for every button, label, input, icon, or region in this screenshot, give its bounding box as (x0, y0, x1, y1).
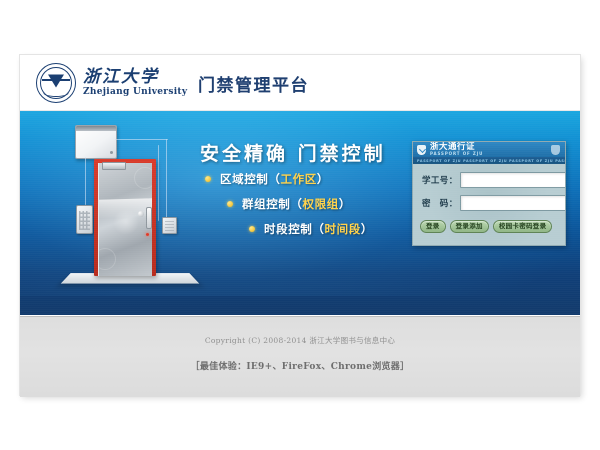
login-title-cn: 浙大通行证 (430, 143, 483, 152)
shield-icon-secondary (551, 145, 560, 155)
username-label: 学工号： (422, 174, 460, 186)
door-knob-icon (138, 211, 144, 217)
login-form: 学工号： 密 码： (413, 164, 565, 211)
feature-suffix: ） (361, 221, 373, 237)
bullet-dot-icon (249, 226, 255, 232)
access-control-illustration (58, 121, 203, 306)
login-add-button[interactable]: 登录添加 (450, 220, 489, 233)
keypad-reader-icon (76, 205, 93, 234)
card-reader-grille (165, 220, 174, 231)
shield-icon (417, 145, 426, 155)
app-page: 浙江大学 Zhejiang University 门禁管理平台 (20, 55, 580, 395)
banner-headline: 安全精确 门禁控制 (200, 139, 386, 166)
wire-to-door-lock (158, 145, 159, 221)
login-button[interactable]: 登录 (420, 220, 446, 233)
door-handle-icon (146, 207, 152, 229)
door-panel (98, 163, 152, 276)
bullet-dot-icon (227, 201, 233, 207)
logo-text: 浙江大学 Zhejiang University (83, 69, 187, 97)
copyright-text: Copyright (C) 2008-2014 浙江大学图书与信息中心 (20, 317, 580, 346)
door-motif (134, 167, 152, 189)
hero-banner: 安全精确 门禁控制 区域控制（ 工作区 ） 群组控制（ 权限组 ） 时段控制（ … (20, 111, 580, 316)
feature-label: 群组控制（ (242, 196, 303, 212)
username-input[interactable] (460, 172, 566, 188)
login-field-row: 学工号： (422, 172, 556, 188)
login-field-row: 密 码： (422, 195, 556, 211)
wire-to-card-reader (166, 139, 167, 223)
page-title: 门禁管理平台 (198, 71, 309, 96)
wire-controller-top (115, 139, 168, 140)
feature-highlight: 时间段 (325, 221, 361, 237)
feature-highlight: 权限组 (303, 196, 339, 212)
feature-label: 区域控制（ (220, 171, 281, 187)
site-header: 浙江大学 Zhejiang University 门禁管理平台 (20, 55, 580, 111)
campus-card-login-button[interactable]: 校园卡密码登录 (493, 220, 553, 233)
university-name-en: Zhejiang University (83, 88, 187, 97)
list-item: 时段控制（ 时间段 ） (249, 221, 373, 237)
wire-controller-to-keypad (85, 157, 86, 205)
seal-bird-shape (48, 75, 64, 88)
list-item: 区域控制（ 工作区 ） (205, 171, 373, 187)
card-reader-icon (162, 217, 177, 234)
feature-highlight: 工作区 (281, 171, 317, 187)
login-title-en: PASSPORT OF ZJU (430, 152, 483, 156)
login-panel: 浙大通行证 PASSPORT OF ZJU PASSPORT OF ZJU PA… (412, 141, 566, 246)
door-closer-icon (102, 162, 126, 170)
zju-seal-icon (36, 63, 76, 103)
bullet-dot-icon (205, 176, 211, 182)
controller-led (110, 151, 113, 154)
password-label: 密 码： (422, 197, 460, 209)
feature-label: 时段控制（ (264, 221, 325, 237)
door-status-led (146, 233, 149, 236)
feature-suffix: ） (339, 196, 351, 212)
access-controller-box-icon (75, 125, 117, 159)
login-strip: PASSPORT OF ZJU PASSPORT OF ZJU PASSPORT… (413, 157, 565, 164)
login-actions: 登录 登录添加 校园卡密码登录 (413, 218, 565, 233)
university-logo[interactable]: 浙江大学 Zhejiang University (36, 63, 187, 103)
login-strip-text: PASSPORT OF ZJU PASSPORT OF ZJU PASSPORT… (413, 159, 565, 163)
door-motif (98, 248, 116, 270)
password-input[interactable] (460, 195, 566, 211)
university-name-cn: 浙江大学 (83, 69, 187, 86)
door-shine (98, 198, 152, 218)
list-item: 群组控制（ 权限组 ） (227, 196, 373, 212)
feature-suffix: ） (317, 171, 329, 187)
login-panel-header: 浙大通行证 PASSPORT OF ZJU (413, 142, 565, 157)
keypad-keys (79, 211, 90, 230)
browser-support-text: ［最佳体验：IE9+、FireFox、Chrome浏览器］ (20, 346, 580, 372)
feature-list: 区域控制（ 工作区 ） 群组控制（ 权限组 ） 时段控制（ 时间段 ） (205, 171, 373, 246)
site-footer: Copyright (C) 2008-2014 浙江大学图书与信息中心 ［最佳体… (20, 316, 580, 397)
seal-arc (43, 88, 69, 97)
